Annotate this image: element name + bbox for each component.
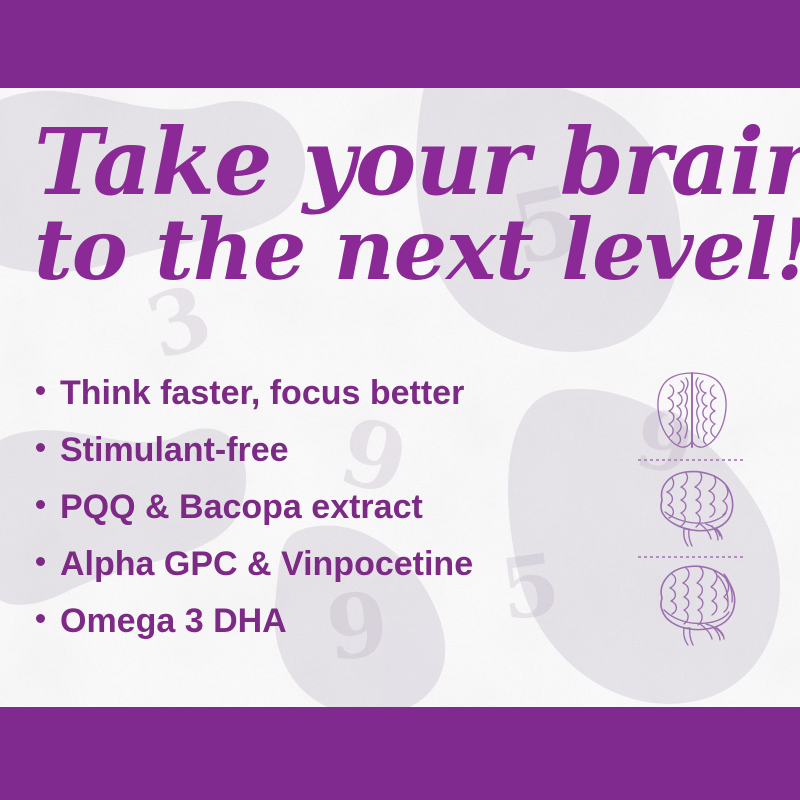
benefit-label: Alpha GPC & Vinpocetine xyxy=(60,547,473,581)
headline-line-2: to the next level! xyxy=(34,211,774,288)
bullet-point-icon xyxy=(36,443,45,452)
brain-three-quarter-view-icon xyxy=(638,562,746,646)
headline-line-1: Take your brain xyxy=(34,120,774,205)
bullet-point-icon xyxy=(36,500,45,509)
list-item: PQQ & Bacopa extract xyxy=(36,490,596,547)
brain-top-view-icon xyxy=(638,368,746,452)
benefit-label: PQQ & Bacopa extract xyxy=(60,490,423,524)
brain-side-view-icon xyxy=(638,465,746,549)
benefit-label: Think faster, focus better xyxy=(60,376,464,410)
list-item: Think faster, focus better xyxy=(36,376,596,433)
headline: Take your brain to the next level! xyxy=(34,120,774,288)
top-color-band xyxy=(0,0,800,88)
divider-1 xyxy=(638,458,746,461)
brain-illustration-column xyxy=(612,368,772,646)
bullet-point-icon xyxy=(36,614,45,623)
benefit-label: Omega 3 DHA xyxy=(60,604,287,638)
list-item: Alpha GPC & Vinpocetine xyxy=(36,547,596,604)
list-item: Omega 3 DHA xyxy=(36,604,596,661)
list-item: Stimulant-free xyxy=(36,433,596,490)
bottom-color-band xyxy=(0,707,800,800)
bullet-point-icon xyxy=(36,557,45,566)
benefits-list: Think faster, focus better Stimulant-fre… xyxy=(36,376,596,661)
bullet-point-icon xyxy=(36,386,45,395)
advertisement-banner: 5 5 9 9 9 3 Nutrafacts Take your brain t… xyxy=(0,0,800,800)
benefit-label: Stimulant-free xyxy=(60,433,289,467)
divider-2 xyxy=(638,555,746,558)
